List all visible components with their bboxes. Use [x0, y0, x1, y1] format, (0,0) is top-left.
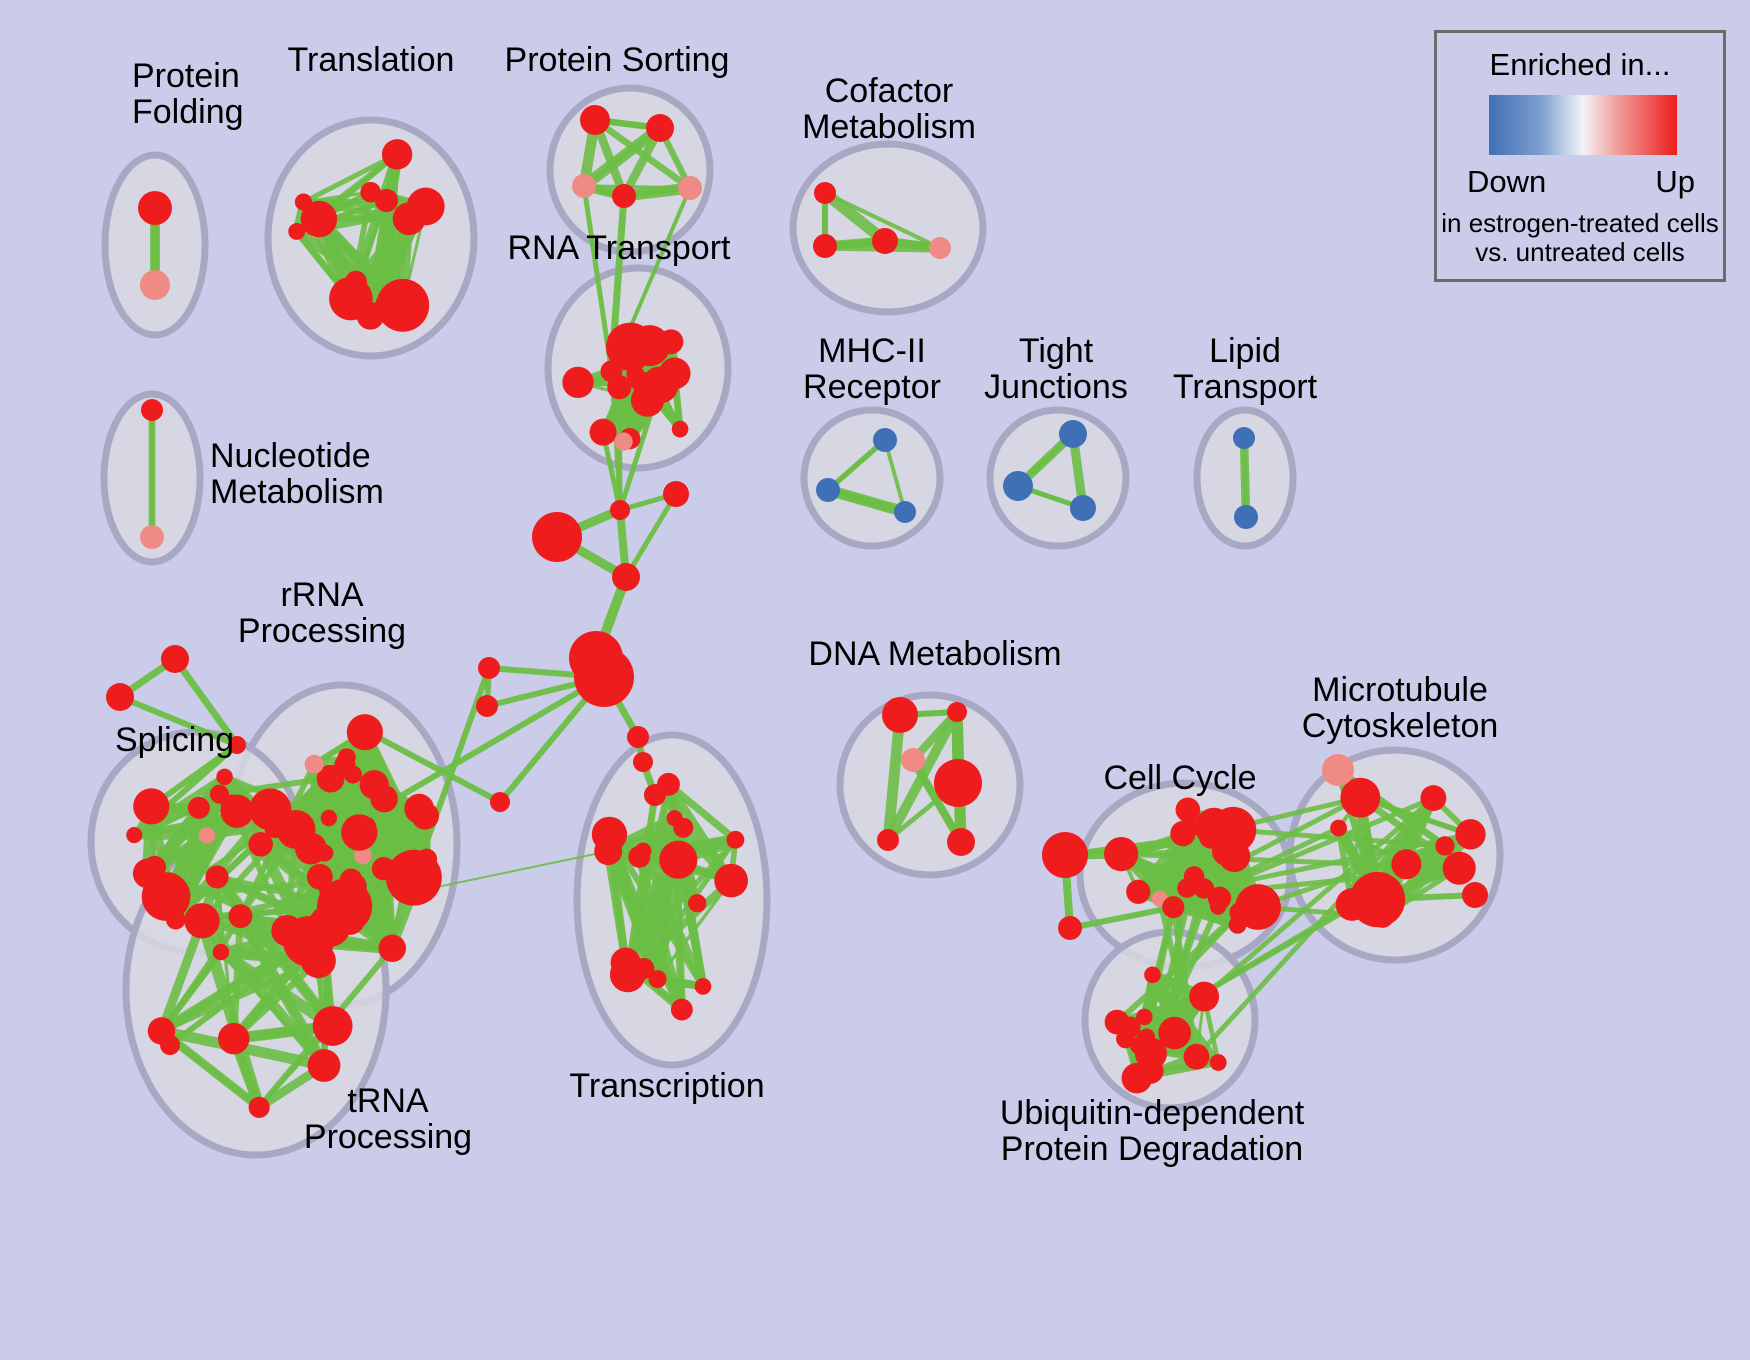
network-node-dna-metabolism[interactable]	[882, 697, 918, 733]
network-node-ubiquitin-protein-degradation[interactable]	[1189, 982, 1219, 1012]
legend-box: Enriched in... Down Up in estrogen-treat…	[1434, 30, 1726, 282]
network-node-connector[interactable]	[627, 726, 649, 748]
network-node-ubiquitin-protein-degradation[interactable]	[1158, 1017, 1191, 1050]
network-node-splicing[interactable]	[199, 827, 215, 843]
network-node-mhc-ii-receptor[interactable]	[894, 501, 916, 523]
network-node-ubiquitin-protein-degradation[interactable]	[1144, 966, 1161, 983]
network-node-rrna-processing[interactable]	[321, 810, 337, 826]
network-node-transcription[interactable]	[671, 999, 693, 1021]
network-node-transcription[interactable]	[659, 841, 697, 879]
network-node-cell-cycle[interactable]	[1184, 866, 1205, 887]
network-node-connector[interactable]	[610, 500, 630, 520]
network-node-tight-junctions[interactable]	[1003, 471, 1033, 501]
network-node-ubiquitin-protein-degradation[interactable]	[1184, 1044, 1210, 1070]
network-node-cell-cycle[interactable]	[1126, 880, 1150, 904]
network-node-microtubule-cytoskeleton[interactable]	[1391, 849, 1421, 879]
network-node-trna-processing[interactable]	[213, 944, 229, 960]
network-node-protein-sorting[interactable]	[646, 114, 674, 142]
network-node-trna-processing[interactable]	[205, 865, 228, 888]
cluster-label-ubiquitin-protein-degradation: Ubiquitin-dependent Protein Degradation	[1000, 1095, 1304, 1168]
network-node-rrna-processing[interactable]	[382, 939, 400, 957]
network-node-cell-cycle[interactable]	[1210, 807, 1256, 853]
network-node-cell-cycle[interactable]	[1210, 899, 1226, 915]
network-node-protein-sorting[interactable]	[612, 184, 636, 208]
network-node-rna-transport[interactable]	[606, 323, 654, 371]
network-node-lipid-transport[interactable]	[1233, 427, 1255, 449]
network-node-microtubule-cytoskeleton[interactable]	[1420, 785, 1446, 811]
cluster-label-rrna-processing: rRNA Processing	[238, 577, 406, 650]
network-node-splicing[interactable]	[133, 788, 169, 824]
network-node-nucleotide-metabolism[interactable]	[140, 525, 164, 549]
network-node-translation[interactable]	[375, 189, 398, 212]
network-node-transcription[interactable]	[726, 831, 744, 849]
cluster-label-protein-folding: Protein Folding	[132, 58, 244, 131]
network-node-ubiquitin-protein-degradation[interactable]	[1138, 1058, 1164, 1084]
legend-caption: in estrogen-treated cells vs. untreated …	[1437, 209, 1723, 267]
cluster-label-nucleotide-metabolism: Nucleotide Metabolism	[210, 438, 384, 511]
network-node-transcription[interactable]	[667, 810, 683, 826]
cluster-label-transcription: Transcription	[569, 1068, 764, 1104]
network-node-trna-processing[interactable]	[313, 1006, 353, 1046]
network-node-protein-folding[interactable]	[140, 270, 170, 300]
cluster-label-rna-transport: RNA Transport	[508, 230, 731, 266]
network-node-rna-transport[interactable]	[672, 421, 689, 438]
network-node-ubiquitin-protein-degradation[interactable]	[1210, 1054, 1227, 1071]
network-node-rrna-processing[interactable]	[404, 794, 434, 824]
network-node-lipid-transport[interactable]	[1234, 505, 1258, 529]
network-node-cell-cycle[interactable]	[1235, 884, 1281, 930]
network-node-connector[interactable]	[532, 512, 582, 562]
network-node-connector[interactable]	[160, 1035, 180, 1055]
network-node-cofactor-metabolism[interactable]	[813, 234, 837, 258]
network-node-splicing[interactable]	[142, 872, 191, 921]
network-node-connector[interactable]	[1322, 754, 1354, 786]
network-node-trna-processing[interactable]	[218, 1023, 250, 1055]
network-node-dna-metabolism[interactable]	[877, 829, 899, 851]
network-node-dna-metabolism[interactable]	[901, 748, 925, 772]
cluster-label-dna-metabolism: DNA Metabolism	[808, 636, 1061, 672]
network-node-cofactor-metabolism[interactable]	[872, 228, 898, 254]
network-node-microtubule-cytoskeleton[interactable]	[1330, 820, 1347, 837]
network-node-rna-transport[interactable]	[614, 432, 632, 450]
network-node-ubiquitin-protein-degradation[interactable]	[1116, 1029, 1135, 1048]
network-node-rrna-processing[interactable]	[360, 770, 389, 799]
network-node-microtubule-cytoskeleton[interactable]	[1455, 819, 1485, 849]
network-node-cell-cycle[interactable]	[1104, 837, 1138, 871]
network-node-connector[interactable]	[478, 657, 500, 679]
network-node-transcription[interactable]	[592, 817, 627, 852]
network-node-connector[interactable]	[1058, 916, 1082, 940]
network-node-rrna-processing[interactable]	[305, 755, 324, 774]
network-node-rrna-processing[interactable]	[416, 849, 437, 870]
network-node-protein-folding[interactable]	[138, 191, 172, 225]
network-node-protein-sorting[interactable]	[580, 105, 610, 135]
network-node-rna-transport[interactable]	[590, 419, 617, 446]
network-node-protein-sorting[interactable]	[678, 176, 702, 200]
network-node-rna-transport[interactable]	[631, 384, 664, 417]
network-node-transcription[interactable]	[714, 864, 748, 898]
network-node-microtubule-cytoskeleton[interactable]	[1340, 778, 1380, 818]
network-node-connector[interactable]	[574, 647, 634, 707]
network-node-protein-sorting[interactable]	[572, 174, 596, 198]
network-node-splicing[interactable]	[216, 769, 232, 785]
network-node-transcription[interactable]	[688, 894, 706, 912]
network-node-translation[interactable]	[301, 201, 338, 238]
cluster-label-cofactor-metabolism: Cofactor Metabolism	[802, 73, 976, 146]
network-node-mhc-ii-receptor[interactable]	[816, 478, 840, 502]
network-figure: Protein FoldingTranslationProtein Sortin…	[0, 0, 1750, 1360]
network-node-tight-junctions[interactable]	[1059, 420, 1087, 448]
network-node-dna-metabolism[interactable]	[934, 759, 982, 807]
cluster-label-trna-processing: tRNA Processing	[304, 1083, 472, 1156]
network-node-rrna-processing[interactable]	[372, 857, 395, 880]
network-node-trna-processing[interactable]	[228, 904, 252, 928]
network-node-microtubule-cytoskeleton[interactable]	[1435, 836, 1454, 855]
network-node-rna-transport[interactable]	[659, 358, 691, 390]
network-node-connector[interactable]	[633, 752, 653, 772]
network-node-cell-cycle[interactable]	[1162, 896, 1184, 918]
network-node-splicing[interactable]	[126, 827, 142, 843]
network-node-microtubule-cytoskeleton[interactable]	[1443, 852, 1476, 885]
network-node-transcription[interactable]	[649, 970, 667, 988]
network-node-transcription[interactable]	[628, 846, 650, 868]
network-node-connector[interactable]	[663, 481, 689, 507]
network-node-connector[interactable]	[476, 695, 498, 717]
network-node-rna-transport[interactable]	[562, 367, 593, 398]
network-node-cell-cycle[interactable]	[1176, 798, 1201, 823]
network-node-trna-processing[interactable]	[308, 1049, 341, 1082]
network-node-trna-processing[interactable]	[184, 903, 219, 938]
network-node-ubiquitin-protein-degradation[interactable]	[1136, 1029, 1155, 1048]
cluster-label-microtubule-cytoskeleton: Microtubule Cytoskeleton	[1302, 672, 1499, 745]
network-node-connector[interactable]	[644, 784, 666, 806]
network-node-transcription[interactable]	[611, 948, 641, 978]
network-node-splicing[interactable]	[188, 797, 210, 819]
network-node-translation[interactable]	[407, 188, 445, 226]
cluster-label-lipid-transport: Lipid Transport	[1173, 333, 1317, 406]
network-node-microtubule-cytoskeleton[interactable]	[1336, 888, 1369, 921]
network-node-rrna-processing[interactable]	[341, 814, 377, 850]
legend-high-label: Up	[1655, 164, 1695, 200]
network-node-splicing[interactable]	[220, 794, 253, 827]
network-node-microtubule-cytoskeleton[interactable]	[1365, 884, 1385, 904]
cluster-label-cell-cycle: Cell Cycle	[1103, 760, 1256, 796]
network-node-dna-metabolism[interactable]	[947, 828, 975, 856]
network-node-mhc-ii-receptor[interactable]	[873, 428, 897, 452]
network-node-connector[interactable]	[490, 792, 510, 812]
network-node-nucleotide-metabolism[interactable]	[141, 399, 163, 421]
cluster-label-tight-junctions: Tight Junctions	[984, 333, 1128, 406]
network-node-dna-metabolism[interactable]	[947, 702, 967, 722]
legend-caption-line1: in estrogen-treated cells	[1437, 209, 1723, 238]
network-node-trna-processing[interactable]	[249, 1097, 270, 1118]
network-node-rrna-processing[interactable]	[347, 714, 383, 750]
cluster-label-protein-sorting: Protein Sorting	[505, 42, 730, 78]
network-node-trna-processing[interactable]	[301, 943, 336, 978]
network-node-cofactor-metabolism[interactable]	[929, 237, 951, 259]
network-node-tight-junctions[interactable]	[1070, 495, 1096, 521]
network-node-translation[interactable]	[375, 292, 400, 317]
network-node-rrna-processing[interactable]	[294, 827, 310, 843]
network-node-cofactor-metabolism[interactable]	[814, 182, 836, 204]
network-node-connector[interactable]	[1462, 882, 1488, 908]
network-node-connector[interactable]	[161, 645, 189, 673]
network-node-translation[interactable]	[345, 271, 367, 293]
cluster-label-splicing: Splicing	[115, 722, 234, 758]
network-node-splicing[interactable]	[264, 816, 286, 838]
network-node-transcription[interactable]	[695, 978, 712, 995]
network-node-rrna-processing[interactable]	[342, 874, 367, 899]
legend-title: Enriched in...	[1437, 47, 1723, 83]
network-node-rrna-processing[interactable]	[316, 844, 333, 861]
cluster-label-mhc-ii-receptor: MHC-II Receptor	[803, 333, 941, 406]
legend-caption-line2: vs. untreated cells	[1437, 238, 1723, 267]
network-node-translation[interactable]	[382, 139, 412, 169]
network-node-connector[interactable]	[612, 563, 640, 591]
network-node-trna-processing[interactable]	[321, 920, 337, 936]
cluster-label-translation: Translation	[288, 42, 455, 78]
network-node-connector[interactable]	[1042, 832, 1088, 878]
legend-low-label: Down	[1467, 164, 1546, 200]
network-node-connector[interactable]	[106, 683, 134, 711]
color-gradient-bar	[1489, 95, 1677, 155]
